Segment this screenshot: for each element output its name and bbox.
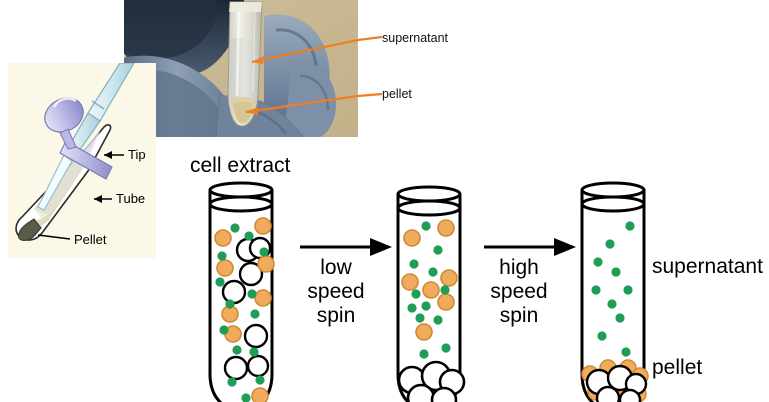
- low-speed-line-3: spin: [317, 304, 356, 327]
- high-speed-arrow-head: [554, 238, 576, 256]
- supernatant-pointer-extension: [358, 37, 382, 40]
- high-speed-line-3: spin: [500, 304, 539, 327]
- cell-extract-title: cell extract: [190, 154, 291, 177]
- low-speed-spin-step: low speed spin: [300, 238, 392, 327]
- photo-label-pellet: pellet: [382, 87, 412, 101]
- photo-content: [124, 0, 358, 137]
- low-speed-line-2: speed: [307, 280, 364, 303]
- low-speed-line-1: low: [320, 256, 352, 279]
- tube-2: [398, 187, 464, 402]
- photo-label-supernatant: supernatant: [382, 31, 448, 45]
- high-speed-line-1: high: [499, 256, 539, 279]
- tube-neck: [229, 2, 262, 12]
- high-speed-line-2: speed: [490, 280, 547, 303]
- pellet-pointer-extension: [358, 94, 382, 96]
- low-speed-arrow-head: [370, 238, 392, 256]
- pointer-extensions: [358, 0, 388, 137]
- microcentrifuge-tube: [228, 2, 262, 126]
- tube-3: [582, 183, 648, 402]
- tube-1: [210, 183, 274, 402]
- diagram-label-supernatant: supernatant: [652, 255, 763, 278]
- centrifugation-diagram: cell extract: [0, 140, 769, 402]
- high-speed-spin-step: high speed spin: [484, 238, 576, 327]
- diagram-label-pellet: pellet: [652, 356, 702, 379]
- centrifuge-tube-photograph: [124, 0, 358, 137]
